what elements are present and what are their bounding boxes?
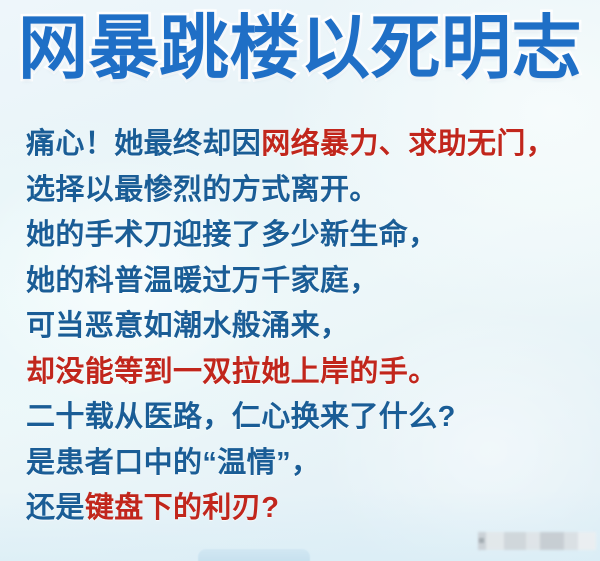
body-text-block: 痛心！她最终却因网络暴力、求助无门， 选择以最惨烈的方式离开。 她的手术刀迎接了…: [26, 122, 586, 532]
body-line-9-segment-2: 键盘下的利刃?: [85, 492, 280, 524]
body-line-1: 痛心！她最终却因网络暴力、求助无门，: [26, 122, 586, 168]
body-line-3: 她的手术刀迎接了多少新生命，: [26, 213, 586, 259]
body-line-2-segment-1: 选择以最惨烈的方式离开。: [26, 174, 379, 206]
body-line-1-segment-2: 网络暴力、求助无门，: [261, 128, 555, 160]
body-line-4: 她的科普温暖过万千家庭，: [26, 259, 586, 305]
body-line-2: 选择以最惨烈的方式离开。: [26, 168, 586, 214]
body-line-5: 可当恶意如潮水般涌来，: [26, 304, 586, 350]
body-line-9-segment-1: 还是: [26, 492, 85, 524]
body-line-6: 却没能等到一双拉她上岸的手。: [26, 350, 586, 396]
bottom-ui-pill: [198, 549, 310, 561]
body-line-7-segment-1: 二十载从医路，仁心换来了什么?: [26, 401, 456, 433]
body-line-9: 还是键盘下的利刃?: [26, 486, 586, 532]
body-line-5-segment-1: 可当恶意如潮水般涌来，: [26, 310, 349, 342]
blurred-watermark-mark: [479, 538, 484, 543]
body-line-8-segment-1: 是患者口中的“温情”，: [26, 447, 320, 479]
blurred-watermark: [478, 532, 596, 550]
body-line-8: 是患者口中的“温情”，: [26, 441, 586, 487]
body-line-4-segment-1: 她的科普温暖过万千家庭，: [26, 265, 379, 297]
body-line-6-segment-1: 却没能等到一双拉她上岸的手。: [26, 356, 438, 388]
body-line-1-segment-1: 痛心！她最终却因: [26, 128, 261, 160]
body-line-3-segment-1: 她的手术刀迎接了多少新生命，: [26, 219, 438, 251]
poster-image: 网暴跳楼以死明志 痛心！她最终却因网络暴力、求助无门， 选择以最惨烈的方式离开。…: [0, 0, 600, 561]
headline-title: 网暴跳楼以死明志: [0, 6, 600, 90]
body-line-7: 二十载从医路，仁心换来了什么?: [26, 395, 586, 441]
